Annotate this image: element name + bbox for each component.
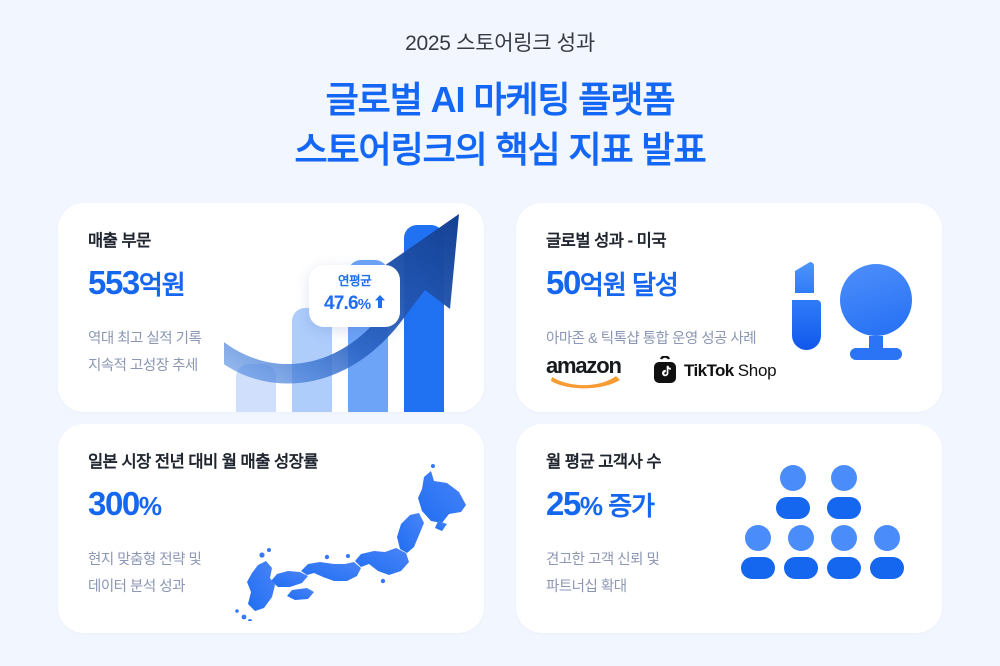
card-value-unit: 억원: [139, 270, 185, 300]
metric-card-clients: 월 평균 고객사 수 25% 증가 견고한 고객 신뢰 및 파트너십 확대: [516, 424, 942, 633]
desc-line-2: 데이터 분석 성과: [88, 574, 318, 601]
desc-line-1: 현지 맞춤형 전략 및: [88, 547, 318, 574]
card-value: 300%: [88, 483, 318, 524]
card-value-number: 25: [546, 485, 580, 522]
desc-line-1: 견고한 고객 신뢰 및: [546, 547, 661, 574]
beauty-commerce-illustration: [780, 245, 920, 375]
desc-line-2: 지속적 고성장 추세: [88, 353, 201, 380]
tiktok-shop-logo: TikTok Shop: [652, 356, 776, 384]
card-value: 50억원 달성: [546, 262, 756, 303]
card-description: 현지 맞춤형 전략 및 데이터 분석 성과: [88, 547, 318, 601]
desc-line-2: 파트너십 확대: [546, 574, 661, 601]
japan-card-text: 일본 시장 전년 대비 월 매출 성장률 300% 현지 맞춤형 전략 및 데이…: [88, 452, 318, 600]
clients-card-text: 월 평균 고객사 수 25% 증가 견고한 고객 신뢰 및 파트너십 확대: [546, 452, 661, 600]
card-label: 일본 시장 전년 대비 월 매출 성장률: [88, 452, 318, 473]
metric-card-grid: 연평균 47.6% 매출 부문 553억원 역대 최고 실적 기록 지속적 고성: [58, 203, 942, 643]
metric-card-japan: 일본 시장 전년 대비 월 매출 성장률 300% 현지 맞춤형 전략 및 데이…: [58, 424, 484, 633]
metric-card-global-us: 글로벌 성과 - 미국 50억원 달성 아마존 & 틱톡샵 통합 운영 성공 사…: [516, 203, 942, 412]
partner-logos: amazon TikTok Shop: [546, 355, 776, 385]
card-value-number: 300: [88, 485, 139, 522]
desc-line-1: 역대 최고 실적 기록: [88, 326, 201, 353]
tiktok-bag-icon: [652, 356, 678, 384]
global-card-text: 글로벌 성과 - 미국 50억원 달성 아마존 & 틱톡샵 통합 운영 성공 사…: [546, 231, 756, 353]
card-value-unit: % 증가: [580, 491, 654, 521]
amazon-logo: amazon: [546, 355, 628, 385]
revenue-card-text: 매출 부문 553억원 역대 최고 실적 기록 지속적 고성장 추세: [88, 231, 201, 379]
card-description: 아마존 & 틱톡샵 통합 운영 성공 사례: [546, 326, 756, 353]
globe-icon: [840, 264, 912, 336]
card-label: 글로벌 성과 - 미국: [546, 231, 756, 252]
badge-percent: %: [358, 296, 371, 313]
badge-caption: 연평균: [324, 274, 385, 289]
arrow-up-icon: [375, 292, 385, 315]
shop-text: Shop: [738, 361, 777, 380]
card-description: 역대 최고 실적 기록 지속적 고성장 추세: [88, 326, 201, 380]
badge-value: 47.6: [324, 293, 358, 314]
title-line-2: 스토어링크의 핵심 지표 발표: [0, 125, 1000, 175]
card-label: 매출 부문: [88, 231, 201, 252]
tiktok-wordmark: TikTok Shop: [684, 362, 776, 379]
desc-line-1: 아마존 & 틱톡샵 통합 운영 성공 사례: [546, 326, 756, 353]
header-eyebrow: 2025 스토어링크 성과: [0, 30, 1000, 57]
average-growth-badge: 연평균 47.6%: [309, 265, 400, 327]
metric-card-revenue: 연평균 47.6% 매출 부문 553억원 역대 최고 실적 기록 지속적 고성: [58, 203, 484, 412]
page-header: 2025 스토어링크 성과 글로벌 AI 마케팅 플랫폼 스토어링크의 핵심 지…: [0, 30, 1000, 175]
badge-value-row: 47.6%: [324, 292, 385, 316]
card-value: 553억원: [88, 262, 201, 303]
people-group-icon: [738, 462, 908, 587]
card-label: 월 평균 고객사 수: [546, 452, 661, 473]
card-value: 25% 증가: [546, 483, 661, 524]
card-description: 견고한 고객 신뢰 및 파트너십 확대: [546, 547, 661, 601]
title-line-1: 글로벌 AI 마케팅 플랫폼: [0, 75, 1000, 125]
lipstick-icon: [795, 262, 814, 293]
card-value-unit: %: [139, 491, 161, 521]
page-title: 글로벌 AI 마케팅 플랫폼 스토어링크의 핵심 지표 발표: [0, 75, 1000, 174]
infographic-page: 2025 스토어링크 성과 글로벌 AI 마케팅 플랫폼 스토어링크의 핵심 지…: [0, 0, 1000, 666]
card-value-number: 553: [88, 264, 139, 301]
card-value-unit: 억원 달성: [580, 270, 678, 300]
card-value-number: 50: [546, 264, 580, 301]
amazon-smile-icon: [550, 373, 622, 389]
tiktok-text: TikTok: [684, 361, 734, 380]
